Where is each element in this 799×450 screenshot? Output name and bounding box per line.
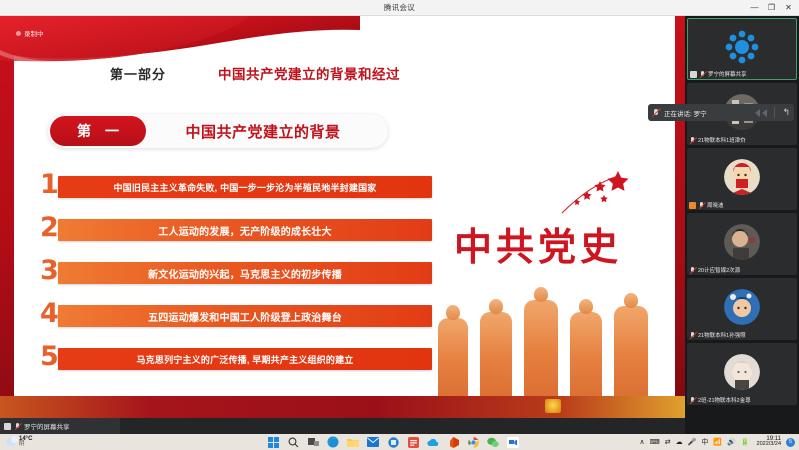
shared-screen-area[interactable]: 录制中 第一部分 中国共产党建立的背景和经过 第 一 中国共产党建立的背景 xyxy=(0,16,685,418)
wifi-icon[interactable]: 📶 xyxy=(713,439,722,446)
onedrive-icon[interactable] xyxy=(427,436,439,448)
mic-icon xyxy=(699,71,706,78)
slide-point-list: 1 中国旧民主主义革命失败, 中国一步一步沦为半殖民地半封建国家 2 工人运动的… xyxy=(40,176,432,391)
taskbar-app-icons xyxy=(267,434,519,450)
collapse-chevrons-icon[interactable] xyxy=(755,109,767,117)
statue-head xyxy=(446,305,460,320)
statue-head xyxy=(489,299,503,314)
list-text: 五四运动爆发和中国工人阶级登上政治舞台 xyxy=(148,309,342,324)
wps-icon[interactable] xyxy=(407,436,419,448)
clock-date: 2022/3/24 xyxy=(757,442,781,448)
screen-share-icon xyxy=(690,71,697,78)
network-icon[interactable]: ⇄ xyxy=(665,439,671,446)
participant-name: 罗宁的屏幕共享 xyxy=(708,70,747,78)
participant-tile[interactable]: 罗宁的屏幕共享 xyxy=(687,18,797,80)
wechat-icon[interactable] xyxy=(487,436,499,448)
participant-tile[interactable]: 20计应智媒2次源 xyxy=(687,213,797,275)
cloud-icon xyxy=(6,438,16,446)
list-bar: 新文化运动的兴起，马克思主义的初步传播 xyxy=(58,262,432,284)
statue-head xyxy=(579,299,593,314)
office-icon[interactable] xyxy=(447,436,459,448)
pill-badge: 第 一 xyxy=(50,116,146,146)
notification-badge[interactable]: 5 xyxy=(786,438,795,447)
list-number: 3 xyxy=(40,254,66,288)
slide-emblem-icon xyxy=(545,399,561,413)
participant-tile[interactable]: 2班-21物联本科2金尊 xyxy=(687,343,797,405)
meeting-body: 录制中 第一部分 中国共产党建立的背景和经过 第 一 中国共产党建立的背景 xyxy=(0,16,799,434)
active-speaker-bar[interactable]: 正在讲话: 罗宁 ↰ xyxy=(648,104,794,121)
participant-name: 2班-21物联本科2金尊 xyxy=(698,396,751,404)
list-item: 2 工人运动的发展，无产阶级的成长壮大 xyxy=(40,219,432,241)
participant-name: 周晓迪 xyxy=(707,201,724,209)
avatar xyxy=(724,159,760,195)
list-text: 工人运动的发展，无产阶级的成长壮大 xyxy=(158,223,331,238)
pill-badge-left: 第 xyxy=(77,121,91,141)
list-bar: 中国旧民主主义革命失败, 中国一步一步沦为半殖民地半封建国家 xyxy=(58,176,432,198)
share-status-label: 罗宁的屏幕共享 xyxy=(24,421,70,431)
list-number: 1 xyxy=(40,168,66,202)
participant-label: 2班-21物联本科2金尊 xyxy=(689,396,751,404)
search-icon[interactable] xyxy=(287,436,299,448)
participant-label: 周晓迪 xyxy=(689,201,724,209)
window-titlebar: 腾讯会议 — ❐ ✕ xyxy=(0,0,799,16)
file-explorer-icon[interactable] xyxy=(347,436,359,448)
slide-graphic: 中共党史 xyxy=(432,166,675,416)
window-controls: — ❐ ✕ xyxy=(746,0,797,16)
list-bar: 马克思列宁主义的广泛传播, 早期共产主义组织的建立 xyxy=(58,348,432,370)
slide-footer-band xyxy=(0,396,685,418)
mic-icon xyxy=(14,423,21,430)
volume-icon[interactable]: 🔊 xyxy=(727,439,736,446)
participant-label: 21物联本科1孙强照 xyxy=(689,331,746,339)
list-text: 马克思列宁主义的广泛传播, 早期共产主义组织的建立 xyxy=(136,353,353,366)
start-icon[interactable] xyxy=(267,436,279,448)
store-icon[interactable] xyxy=(387,436,399,448)
ime-icon[interactable]: 中 xyxy=(701,439,708,446)
slide-section-label: 第一部分 xyxy=(110,64,166,83)
chevron-up-icon[interactable]: ∧ xyxy=(640,439,645,446)
mic-muted-icon xyxy=(689,137,696,144)
participant-tile[interactable]: 周晓迪 xyxy=(687,148,797,210)
slide-subtitle-pill: 第 一 中国共产党建立的背景 xyxy=(48,114,388,148)
mic-muted-icon xyxy=(698,202,705,209)
mail-icon[interactable] xyxy=(367,436,379,448)
meeting-icon[interactable] xyxy=(507,436,519,448)
mic-muted-icon xyxy=(652,108,660,118)
list-text: 新文化运动的兴起，马克思主义的初步传播 xyxy=(148,266,342,281)
participant-label: 罗宁的屏幕共享 xyxy=(690,70,747,78)
participant-label: 20计应智媒2次源 xyxy=(689,266,740,274)
pill-badge-right: 一 xyxy=(105,121,119,141)
mic-muted-icon xyxy=(689,397,696,404)
minimize-button[interactable]: — xyxy=(746,0,763,16)
red-stars-icon xyxy=(560,171,630,221)
recording-dot-icon xyxy=(16,31,21,36)
edge-icon[interactable] xyxy=(327,436,339,448)
chrome-icon[interactable] xyxy=(467,436,479,448)
recording-badge: 录制中 xyxy=(16,28,44,38)
recording-label: 录制中 xyxy=(24,28,44,38)
participant-label: 21物联本科1班津夼 xyxy=(689,136,746,144)
participant-name: 21物联本科1班津夼 xyxy=(698,136,746,144)
slide-heading: 第一部分 中国共产党建立的背景和经过 xyxy=(0,60,685,86)
maximize-button[interactable]: ❐ xyxy=(763,0,780,16)
list-item: 4 五四运动爆发和中国工人阶级登上政治舞台 xyxy=(40,305,432,327)
keyboard-icon[interactable]: ⌨ xyxy=(650,439,660,446)
participant-name: 20计应智媒2次源 xyxy=(698,266,740,274)
statue-head xyxy=(534,287,548,302)
list-text: 中国旧民主主义革命失败, 中国一步一步沦为半殖民地半封建国家 xyxy=(113,181,376,194)
divider xyxy=(774,107,775,118)
avatar xyxy=(724,289,760,325)
list-number: 2 xyxy=(40,211,66,245)
presentation-slide: 录制中 第一部分 中国共产党建立的背景和经过 第 一 中国共产党建立的背景 xyxy=(0,16,685,418)
taskbar-system-tray: ∧ ⌨ ⇄ ☁ 🎤 中 📶 🔊 🔋 19:11 2022/3/24 5 xyxy=(640,434,795,450)
mic-muted-icon xyxy=(689,332,696,339)
participant-tile[interactable]: 21物联本科1孙强照 xyxy=(687,278,797,340)
avatar xyxy=(724,29,760,65)
slide-title: 中国共产党建立的背景和经过 xyxy=(218,63,400,83)
host-icon xyxy=(689,202,696,209)
participant-name: 21物联本科1孙强照 xyxy=(698,331,746,339)
list-number: 4 xyxy=(40,297,66,331)
pill-label: 中国共产党建立的背景 xyxy=(146,121,388,142)
participant-panel[interactable]: 罗宁的屏幕共享 正在讲话: 罗宁 ↰ xyxy=(685,16,799,434)
task-view-icon[interactable] xyxy=(307,436,319,448)
taskbar-clock[interactable]: 19:11 2022/3/24 xyxy=(757,436,781,448)
mic-icon[interactable]: 🎤 xyxy=(688,439,697,446)
windows-taskbar: 14°C 阴 xyxy=(0,434,799,450)
list-number: 5 xyxy=(40,340,66,374)
taskbar-weather-widget[interactable]: 14°C 阴 xyxy=(0,436,120,448)
statue-head xyxy=(624,293,638,308)
list-bar: 工人运动的发展，无产阶级的成长壮大 xyxy=(58,219,432,241)
weather-description: 阴 xyxy=(19,442,32,448)
screen-share-icon xyxy=(4,423,11,430)
list-item: 5 马克思列宁主义的广泛传播, 早期共产主义组织的建立 xyxy=(40,348,432,370)
list-item: 1 中国旧民主主义革命失败, 中国一步一步沦为半殖民地半封建国家 xyxy=(40,176,432,198)
graphic-title: 中共党史 xyxy=(454,216,622,271)
list-item: 3 新文化运动的兴起，马克思主义的初步传播 xyxy=(40,262,432,284)
mic-muted-icon xyxy=(689,267,696,274)
active-speaker-label: 正在讲话: 罗宁 xyxy=(664,108,707,118)
close-button[interactable]: ✕ xyxy=(780,0,797,16)
list-bar: 五四运动爆发和中国工人阶级登上政治舞台 xyxy=(58,305,432,327)
avatar xyxy=(724,354,760,390)
back-arrow-icon[interactable]: ↰ xyxy=(782,108,790,117)
battery-icon[interactable]: 🔋 xyxy=(741,439,750,446)
tencent-meeting-window: 腾讯会议 — ❐ ✕ xyxy=(0,0,799,450)
share-status-bar: 罗宁的屏幕共享 xyxy=(0,418,120,434)
cloud-icon[interactable]: ☁ xyxy=(676,439,683,446)
window-title: 腾讯会议 xyxy=(384,2,415,13)
avatar xyxy=(724,224,760,260)
